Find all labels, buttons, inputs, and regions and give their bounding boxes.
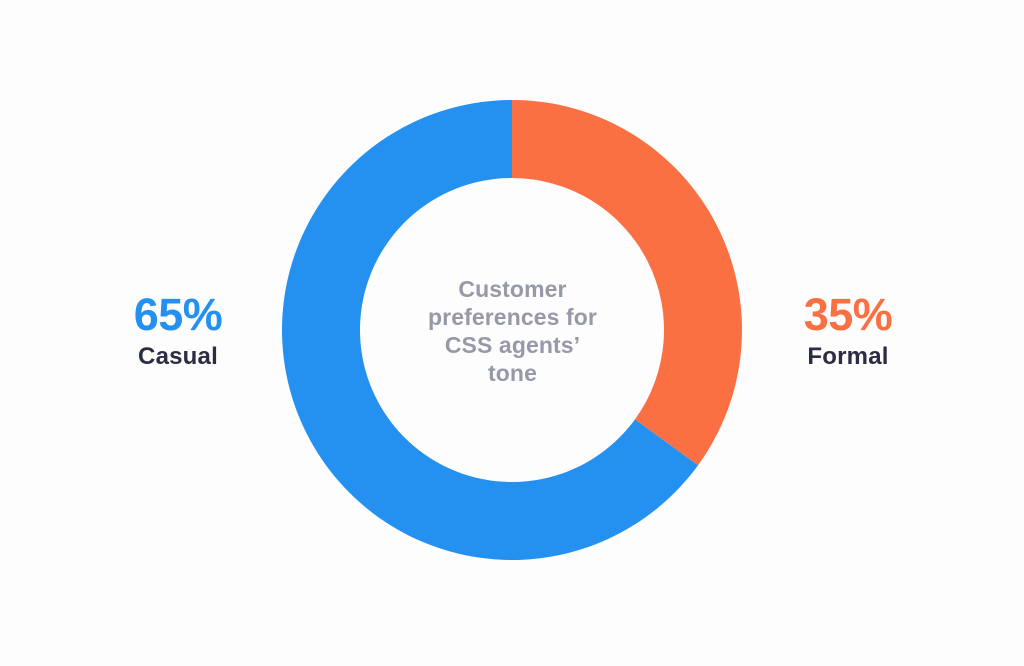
donut-svg bbox=[282, 100, 743, 561]
legend-entry-casual: 65% Casual bbox=[63, 292, 293, 370]
donut-slice-formal bbox=[512, 100, 742, 465]
donut-slice-group bbox=[282, 100, 742, 560]
legend-formal-percent: 35% bbox=[733, 292, 963, 338]
legend-entry-formal: 35% Formal bbox=[733, 292, 963, 370]
donut-chart-figure: Customer preferences for CSS agents’ ton… bbox=[0, 0, 1024, 666]
legend-casual-percent: 65% bbox=[63, 292, 293, 338]
legend-casual-label: Casual bbox=[63, 344, 293, 370]
legend-formal-label: Formal bbox=[733, 344, 963, 370]
donut-chart-graphic bbox=[282, 100, 743, 561]
